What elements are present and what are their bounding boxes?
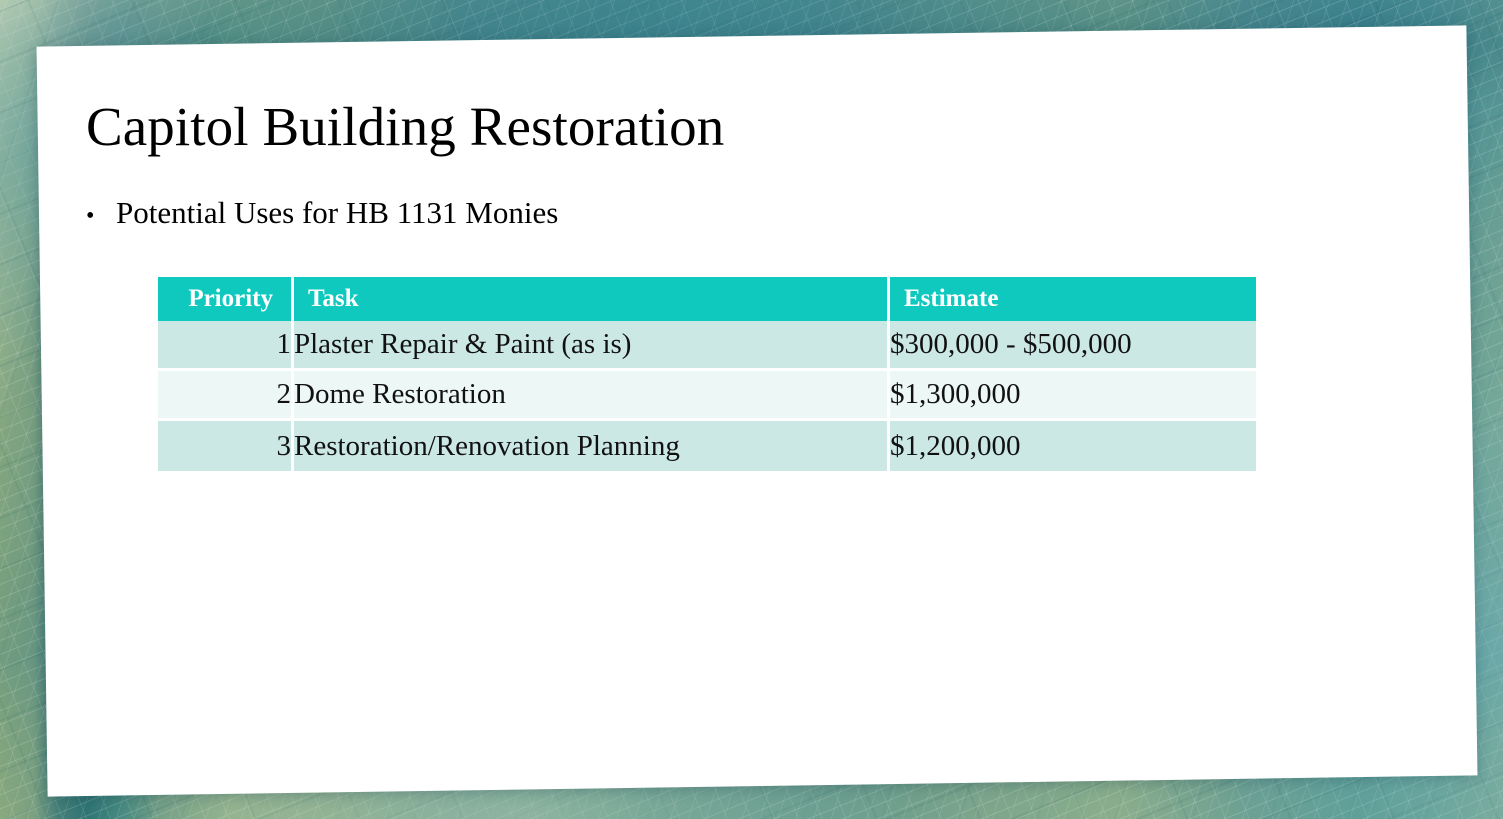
slide-content: Capitol Building Restoration • Potential… xyxy=(0,0,1503,819)
cell-task: Plaster Repair & Paint (as is) xyxy=(294,321,890,371)
column-header-priority: Priority xyxy=(158,277,294,321)
cell-priority: 1 xyxy=(158,321,294,371)
cell-estimate: $300,000 - $500,000 xyxy=(890,321,1256,371)
table-header-row: Priority Task Estimate xyxy=(158,277,1256,321)
table-row: 3 Restoration/Renovation Planning $1,200… xyxy=(158,421,1256,471)
bullet-item-label: Potential Uses for HB 1131 Monies xyxy=(116,194,558,231)
cell-task: Dome Restoration xyxy=(294,371,890,421)
page-title: Capitol Building Restoration xyxy=(86,98,724,156)
column-header-task: Task xyxy=(294,277,890,321)
cell-priority: 3 xyxy=(158,421,294,471)
table-row: 1 Plaster Repair & Paint (as is) $300,00… xyxy=(158,321,1256,371)
cell-priority: 2 xyxy=(158,371,294,421)
slide-stage: Capitol Building Restoration • Potential… xyxy=(0,0,1503,819)
column-header-estimate: Estimate xyxy=(890,277,1256,321)
table-body: 1 Plaster Repair & Paint (as is) $300,00… xyxy=(158,321,1256,471)
table-header: Priority Task Estimate xyxy=(158,277,1256,321)
table-row: 2 Dome Restoration $1,300,000 xyxy=(158,371,1256,421)
bullet-list-item: • Potential Uses for HB 1131 Monies xyxy=(86,194,558,231)
cell-estimate: $1,300,000 xyxy=(890,371,1256,421)
cell-estimate: $1,200,000 xyxy=(890,421,1256,471)
cell-task: Restoration/Renovation Planning xyxy=(294,421,890,471)
priorities-table: Priority Task Estimate 1 Plaster Repair … xyxy=(158,277,1256,471)
bullet-point-icon: • xyxy=(86,204,116,228)
